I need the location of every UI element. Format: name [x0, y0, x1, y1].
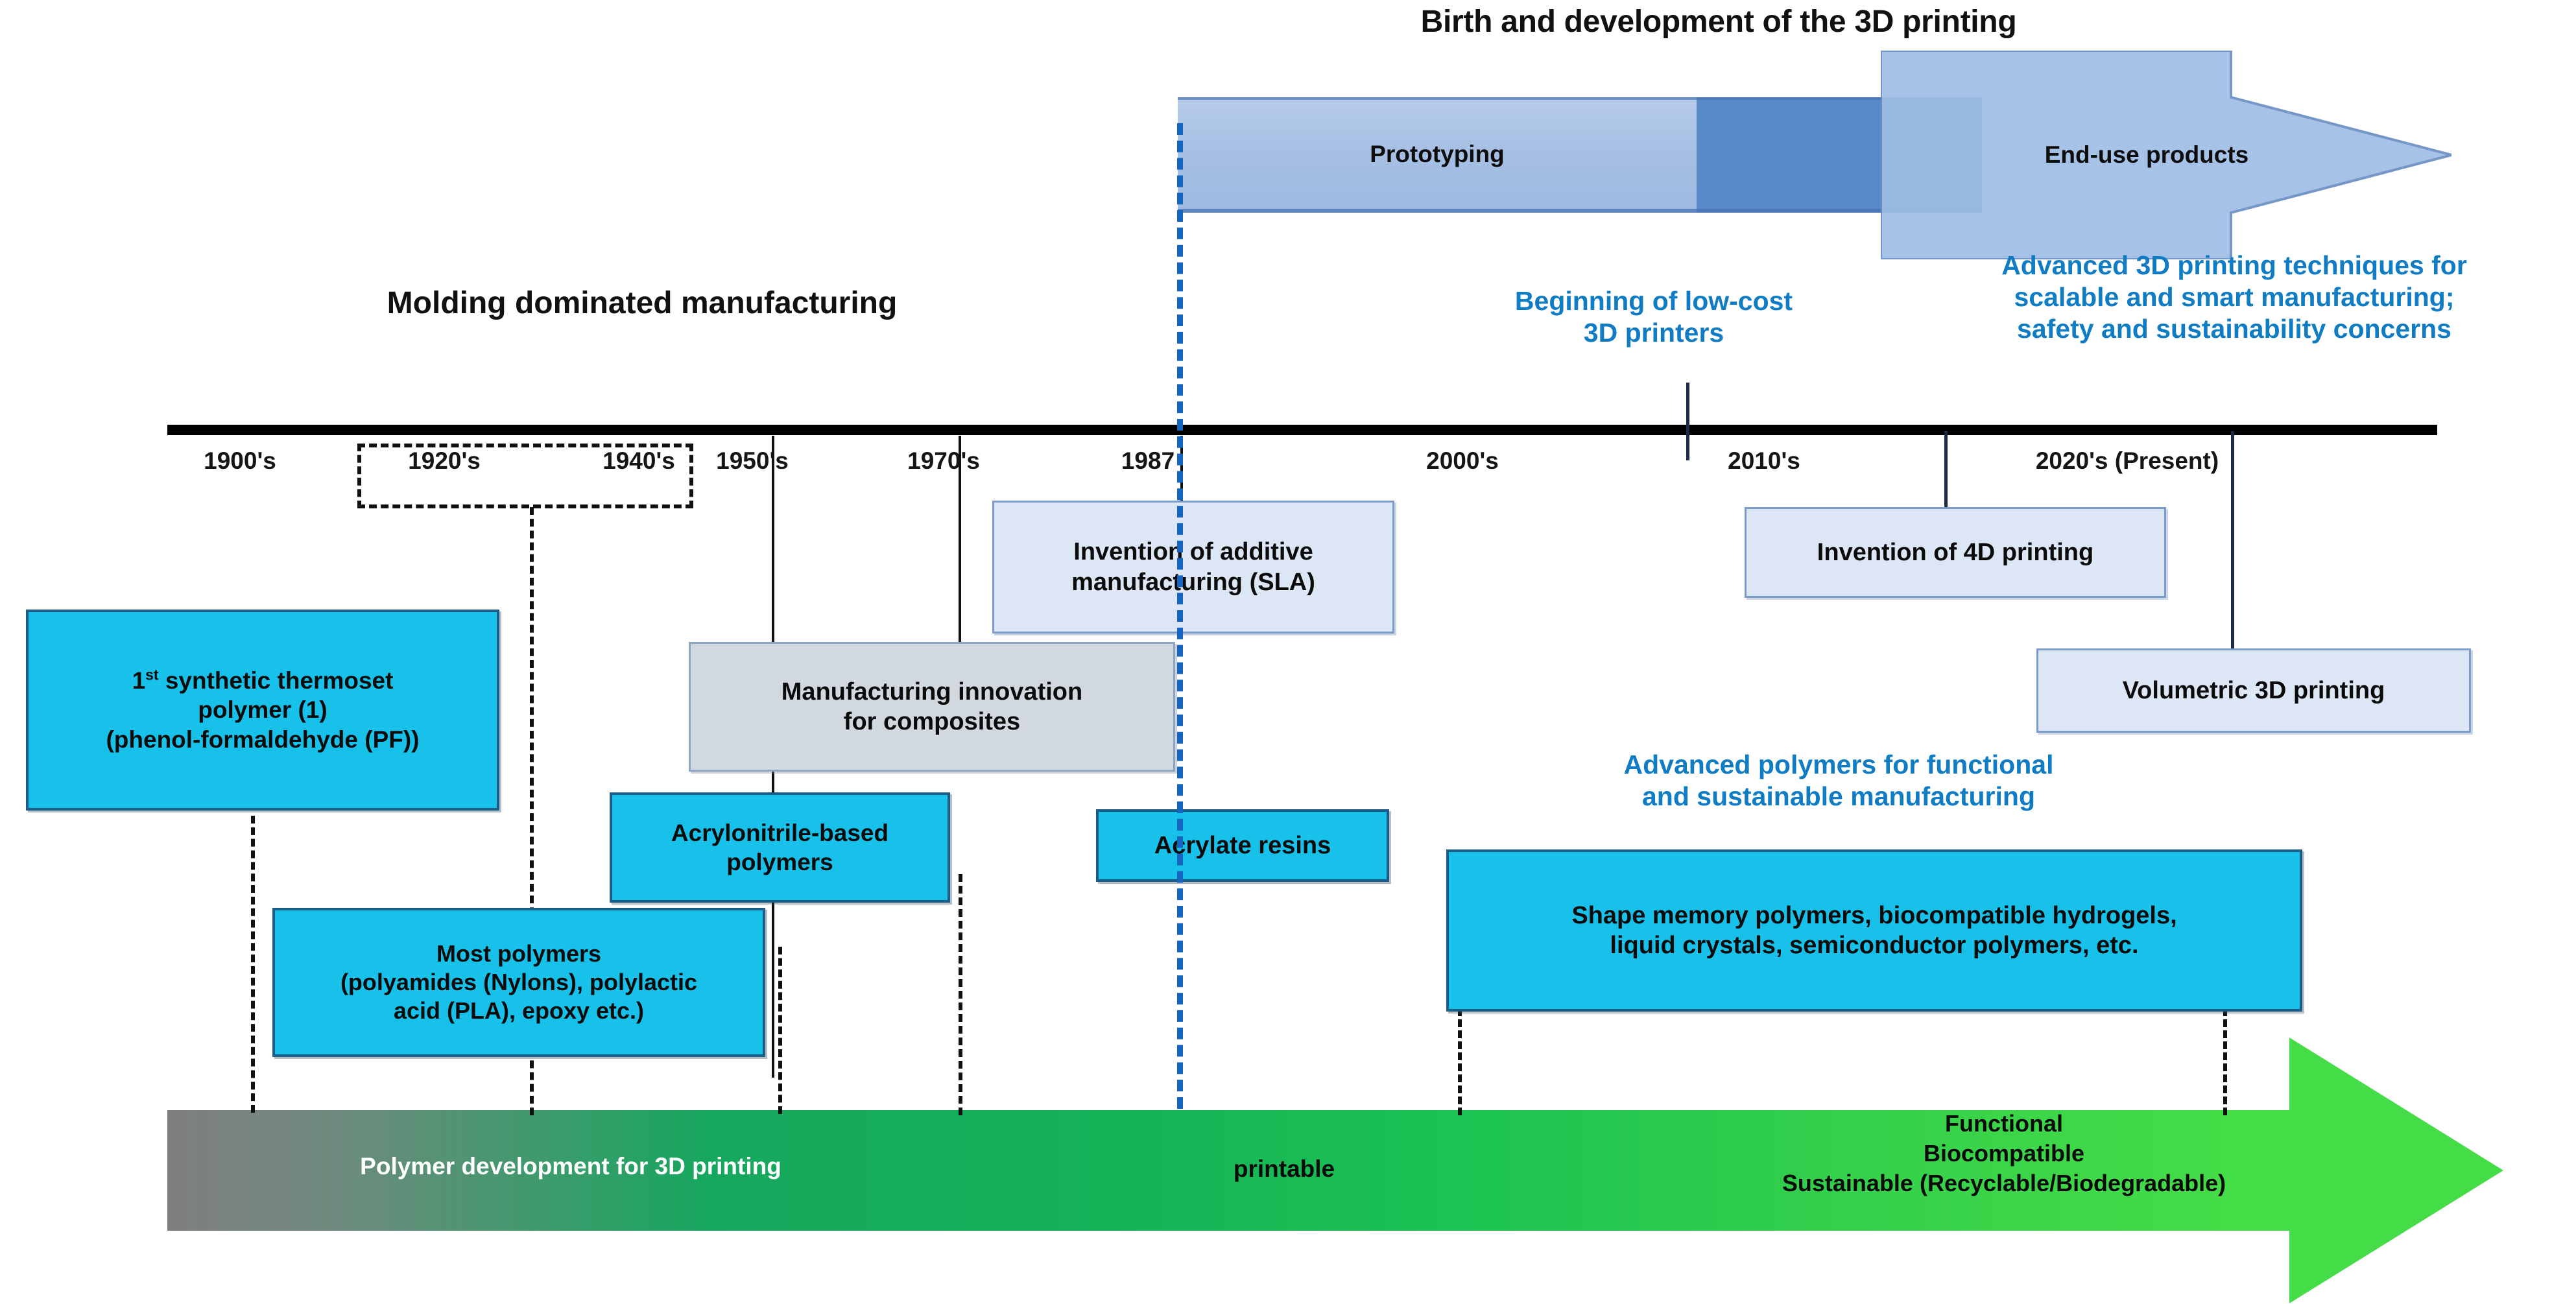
functional-line1: Functional — [1660, 1109, 2348, 1139]
green-arrow-main-label: Polymer development for 3D printing — [337, 1153, 804, 1180]
sla-line2: manufacturing (SLA) — [1071, 567, 1315, 597]
connector-mostpolymers-dashed — [778, 947, 782, 1114]
note-polymers-line2: and sustainable manufacturing — [1453, 781, 2224, 812]
shape-line2: liquid crystals, semiconductor polymers,… — [1571, 931, 2176, 960]
connector-volumetric — [2231, 431, 2234, 678]
green-arrow-printable-label: printable — [1180, 1156, 1388, 1183]
box-acrylonitrile-polymers: Acrylonitrile-based polymers — [610, 792, 950, 903]
connector-shape-right-dashed — [2223, 1008, 2227, 1115]
thermoset-line2: polymer (1) — [106, 695, 419, 724]
year-label-1940s: 1940's — [602, 447, 675, 475]
connector-1970s — [959, 436, 961, 663]
note-advanced-polymers: Advanced polymers for functional and sus… — [1453, 749, 2224, 812]
year-label-2000s: 2000's — [1426, 447, 1499, 475]
green-arrow-functional-labels: Functional Biocompatible Sustainable (Re… — [1660, 1109, 2348, 1198]
connector-shape-left-dashed — [1458, 1008, 1462, 1115]
most-polymers-line3: acid (PLA), epoxy etc.) — [340, 997, 697, 1025]
most-polymers-line1: Most polymers — [340, 940, 697, 968]
molding-era-title: Molding dominated manufacturing — [259, 285, 1025, 321]
year-label-1970s: 1970's — [907, 447, 980, 475]
note-advanced-line1: Advanced 3D printing techniques for — [1900, 250, 2568, 281]
box-invention-sla: Invention of additive manufacturing (SLA… — [992, 501, 1394, 634]
thermoset-line1: 1st synthetic thermoset — [106, 666, 419, 695]
acrylonitrile-line1: Acrylonitrile-based — [671, 818, 888, 848]
connector-lowcost — [1686, 383, 1689, 460]
end-use-label: End-use products — [1965, 141, 2328, 169]
end-use-arrow: End-use products — [1881, 51, 2451, 259]
connector-1987-dashed — [1177, 123, 1183, 1109]
year-label-1920s: 1920's — [408, 447, 481, 475]
functional-line2: Biocompatible — [1660, 1139, 2348, 1168]
year-label-1987: 1987 — [1121, 447, 1175, 475]
year-label-1900s: 1900's — [204, 447, 276, 475]
timeline-diagram: Birth and development of the 3D printing… — [0, 0, 2576, 1304]
box-most-polymers: Most polymers (polyamides (Nylons), poly… — [272, 908, 765, 1057]
prototyping-label: Prototyping — [1178, 141, 1697, 168]
note-polymers-line1: Advanced polymers for functional — [1453, 749, 2224, 781]
box-shape-memory-polymers: Shape memory polymers, biocompatible hyd… — [1446, 849, 2302, 1012]
sla-line1: Invention of additive — [1071, 537, 1315, 567]
composites-line1: Manufacturing innovation — [781, 677, 1082, 707]
prototyping-band: Prototyping — [1178, 97, 1697, 213]
box-volumetric-3d-printing: Volumetric 3D printing — [2036, 648, 2471, 733]
box-invention-4d-printing: Invention of 4D printing — [1745, 507, 2166, 598]
most-polymers-line2: (polyamides (Nylons), polylactic — [340, 968, 697, 997]
note-low-cost-line1: Beginning of low-cost — [1446, 285, 1861, 317]
box-thermoset-polymer: 1st synthetic thermoset polymer (1) (phe… — [26, 610, 499, 811]
acrylonitrile-line2: polymers — [671, 848, 888, 877]
connector-acrylonitrile-dashed — [959, 874, 962, 1115]
box-acrylate-resins: Acrylate resins — [1096, 809, 1389, 882]
year-label-2020s: 2020's (Present) — [2036, 447, 2219, 475]
note-advanced-line2: scalable and smart manufacturing; — [1900, 281, 2568, 313]
note-low-cost-printers: Beginning of low-cost 3D printers — [1446, 285, 1861, 349]
thermoset-line3: (phenol-formaldehyde (PF)) — [106, 725, 419, 754]
box-manufacturing-innovation: Manufacturing innovation for composites — [689, 642, 1175, 772]
page-title: Birth and development of the 3D printing — [1284, 4, 2153, 40]
year-label-1950s: 1950's — [716, 447, 789, 475]
composites-line2: for composites — [781, 707, 1082, 737]
connector-thermoset-dashed — [251, 816, 255, 1113]
shape-line1: Shape memory polymers, biocompatible hyd… — [1571, 901, 2176, 931]
note-advanced-printing: Advanced 3D printing techniques for scal… — [1900, 250, 2568, 346]
timeline-axis — [167, 425, 2437, 435]
year-label-2010s: 2010's — [1728, 447, 1800, 475]
functional-line3: Sustainable (Recyclable/Biodegradable) — [1660, 1168, 2348, 1198]
note-advanced-line3: safety and sustainability concerns — [1900, 313, 2568, 345]
connector-4d-printing — [1944, 431, 1948, 509]
note-low-cost-line2: 3D printers — [1446, 317, 1861, 349]
